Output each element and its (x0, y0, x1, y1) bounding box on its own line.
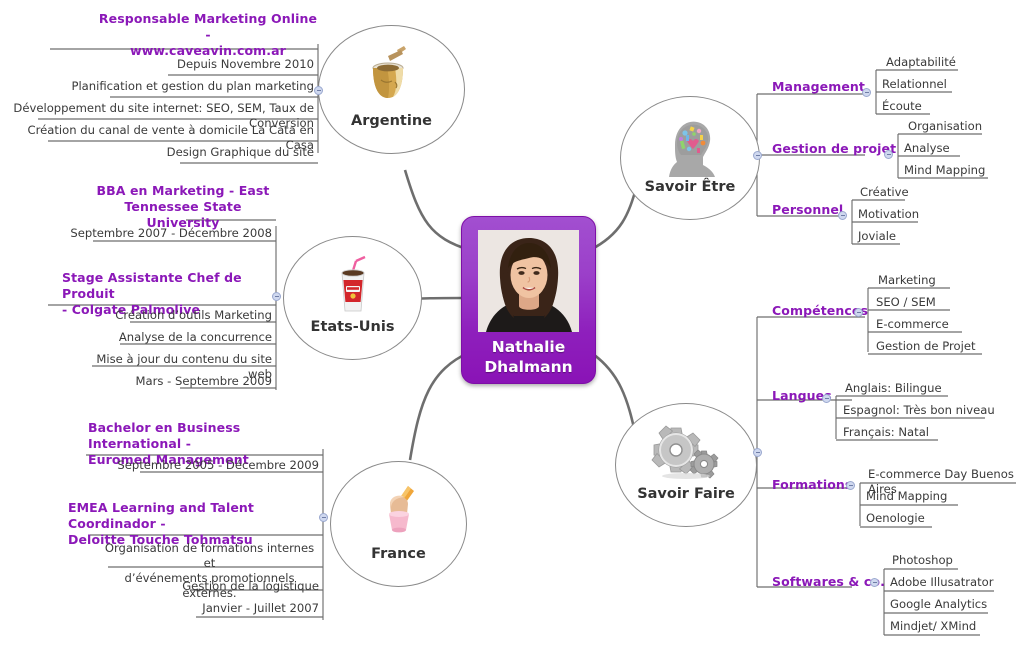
leaf-item[interactable]: Écoute (882, 99, 922, 114)
circle-node-france[interactable]: France (330, 461, 467, 587)
central-node[interactable]: Nathalie Dhalmann (461, 216, 596, 384)
leaf-item[interactable]: Mind Mapping (866, 489, 947, 504)
leaf-item[interactable]: Oenologie (866, 511, 925, 526)
leaf-item[interactable]: Mindjet/ XMind (890, 619, 976, 634)
leaf-item[interactable]: Mars - Septembre 2009 (120, 374, 272, 389)
leaf-item[interactable]: Joviale (858, 229, 896, 244)
collapse-toggle-savoir-faire[interactable] (753, 448, 762, 457)
circle-label-france: France (331, 546, 466, 562)
leaf-item[interactable]: Design Graphique du site (130, 145, 314, 160)
leaf-item[interactable]: Adaptabilité (886, 55, 956, 70)
leaf-item[interactable]: Marketing (878, 273, 936, 288)
collapse-toggle-langues[interactable] (822, 394, 831, 403)
portrait-photo-icon (478, 230, 579, 332)
leaf-item[interactable]: Créative (860, 185, 909, 200)
leaf-item[interactable]: SEO / SEM (876, 295, 936, 310)
collapse-toggle-argentine[interactable] (314, 86, 323, 95)
leaf-item[interactable]: Google Analytics (890, 597, 987, 612)
leaf-item[interactable]: Organisation (908, 119, 982, 134)
collapse-toggle-france[interactable] (319, 513, 328, 522)
collapse-toggle-formations[interactable] (846, 481, 855, 490)
circle-label-savoir-etre: Savoir Être (621, 179, 759, 195)
leaf-item[interactable]: Septembre 2007 - Décembre 2008 (60, 226, 272, 241)
group-title-softwares[interactable]: Softwares & co. (772, 574, 885, 590)
circle-node-argentine[interactable]: Argentine (318, 25, 465, 154)
mindmap-canvas: Nathalie Dhalmann Argentine (0, 0, 1024, 647)
group-title-responsable-marketing[interactable]: Responsable Marketing Online - www.cavea… (98, 11, 318, 59)
collapse-toggle-etats-unis[interactable] (272, 292, 281, 301)
leaf-item[interactable]: Septembre 2005 - Décembre 2009 (110, 458, 319, 473)
head-silhouette-icon (621, 115, 759, 181)
leaf-item[interactable]: Depuis Novembre 2010 (118, 57, 314, 72)
leaf-item[interactable]: Photoshop (892, 553, 953, 568)
leaf-item[interactable]: Analyse (904, 141, 950, 156)
collapse-toggle-personnel[interactable] (838, 211, 847, 220)
circle-node-savoir-etre[interactable]: Savoir Être (620, 96, 760, 220)
group-title-personnel[interactable]: Personnel (772, 202, 843, 218)
collapse-toggle-management[interactable] (862, 88, 871, 97)
group-title-formations[interactable]: Formations (772, 477, 852, 493)
gears-icon (616, 422, 756, 488)
leaf-item[interactable]: Mind Mapping (904, 163, 985, 178)
collapse-toggle-softwares[interactable] (870, 578, 879, 587)
circle-node-savoir-faire[interactable]: Savoir Faire (615, 403, 757, 527)
group-title-gestion-de-projet[interactable]: Gestion de projet (772, 141, 896, 157)
circle-label-etats-unis: Etats-Unis (284, 319, 421, 335)
avatar (478, 230, 579, 332)
leaf-item[interactable]: Planification et gestion du plan marketi… (60, 79, 314, 94)
collapse-toggle-competences[interactable] (854, 308, 863, 317)
leaf-item[interactable]: Motivation (858, 207, 919, 222)
page-title: Nathalie Dhalmann (462, 337, 595, 377)
leaf-item[interactable]: Français: Natal (843, 425, 929, 440)
leaf-item[interactable]: Anglais: Bilingue (845, 381, 942, 396)
leaf-item[interactable]: Création d’outils Marketing (90, 308, 272, 323)
leaf-item[interactable]: Adobe Illusatrator (890, 575, 994, 590)
leaf-item[interactable]: Relationnel (882, 77, 947, 92)
group-title-bba-marketing[interactable]: BBA en Marketing - East Tennessee State … (90, 183, 276, 231)
leaf-item[interactable]: E-commerce (876, 317, 949, 332)
group-title-management[interactable]: Management (772, 79, 865, 95)
mate-gourd-icon (319, 44, 464, 110)
egg-cup-icon (331, 480, 466, 546)
leaf-item[interactable]: Janvier - Juillet 2007 (140, 601, 319, 616)
leaf-item[interactable]: Gestion de la logistique (120, 579, 319, 594)
soda-cup-icon (284, 255, 421, 321)
leaf-item[interactable]: Analyse de la concurrence (90, 330, 272, 345)
circle-label-savoir-faire: Savoir Faire (616, 486, 756, 502)
leaf-item[interactable]: Gestion de Projet (876, 339, 976, 354)
collapse-toggle-savoir-etre[interactable] (753, 151, 762, 160)
leaf-item[interactable]: Espagnol: Très bon niveau (843, 403, 995, 418)
circle-node-etats-unis[interactable]: Etats-Unis (283, 236, 422, 360)
circle-label-argentine: Argentine (319, 113, 464, 129)
collapse-toggle-gestion-projet[interactable] (884, 150, 893, 159)
